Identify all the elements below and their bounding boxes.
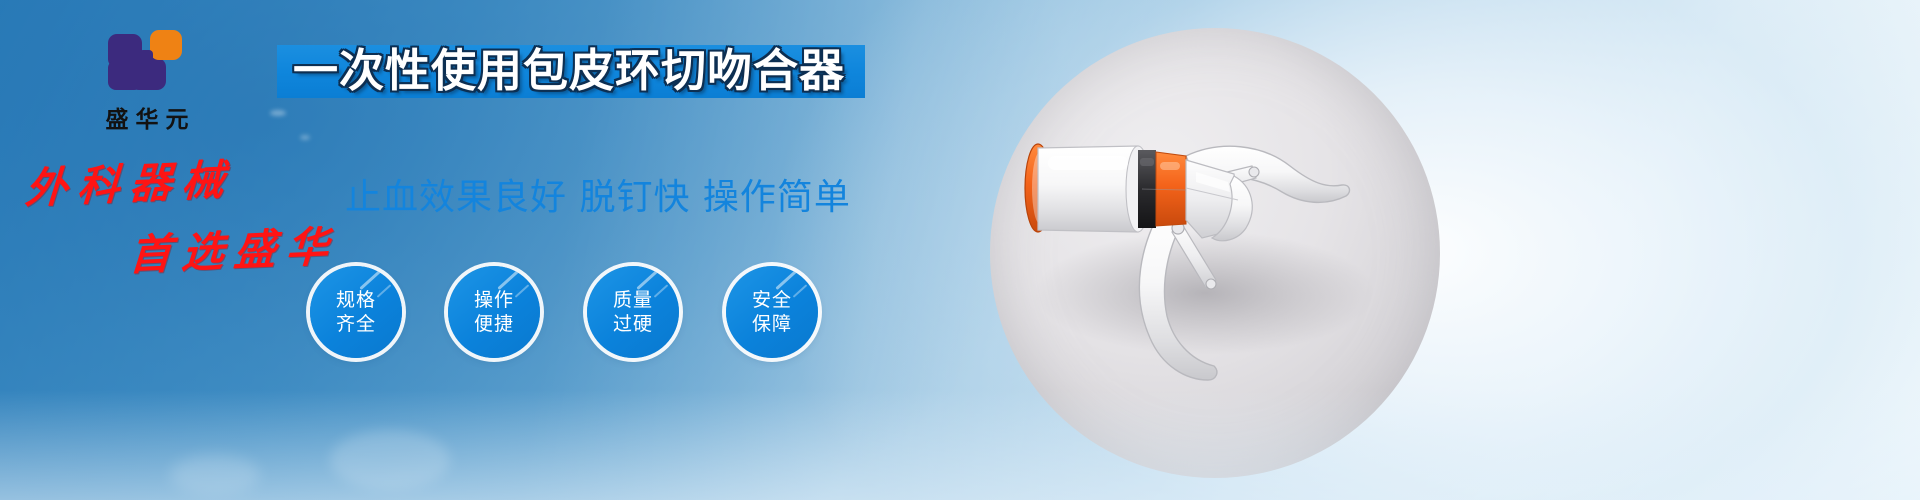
feature-badge-4-line-1: 安全	[752, 288, 792, 312]
product-slogan: 止血效果良好 脱钉快 操作简单	[345, 168, 851, 220]
feature-badge-3-label: 质量 过硬	[587, 266, 679, 358]
feature-badge-4-line-2: 保障	[752, 312, 792, 336]
feature-badge-1[interactable]: 规格 齐全	[310, 266, 402, 358]
feature-badge-1-label: 规格 齐全	[310, 266, 402, 358]
feature-badge-1-line-2: 齐全	[336, 312, 376, 336]
brand-name-text: 盛华元	[62, 100, 232, 134]
background-sparkle	[300, 135, 310, 140]
bottom-fade-overlay	[0, 390, 1920, 500]
logo-shape-square-orange	[150, 30, 182, 60]
feature-badge-1-line-1: 规格	[336, 288, 376, 312]
feature-badge-3[interactable]: 质量 过硬	[587, 266, 679, 358]
feature-badge-2-label: 操作 便捷	[448, 266, 540, 358]
feature-badge-2-line-1: 操作	[474, 288, 514, 312]
background-highlight	[170, 455, 260, 495]
calligraphy-slogan: 外科器械 首选盛华	[18, 148, 348, 258]
product-device-illustration	[990, 28, 1440, 478]
device-pivot-tip-lower	[1206, 279, 1216, 289]
product-banner: 盛华元 一次性使用包皮环切吻合器 外科器械 首选盛华 止血效果良好 脱钉快 操作…	[0, 0, 1920, 500]
background-sparkle	[270, 110, 286, 116]
product-photo	[990, 28, 1440, 478]
brand-logo[interactable]: 盛华元	[62, 28, 232, 134]
calligraphy-line-1: 外科器械	[24, 141, 351, 216]
feature-badge-2-line-2: 便捷	[474, 312, 514, 336]
feature-badge-2[interactable]: 操作 便捷	[448, 266, 540, 358]
device-pivot-tip-upper	[1249, 167, 1259, 177]
background-highlight	[330, 430, 450, 490]
feature-badge-3-line-2: 过硬	[613, 312, 653, 336]
logo-mark-icon	[108, 28, 186, 94]
feature-badge-3-line-1: 质量	[613, 288, 653, 312]
page-title: 一次性使用包皮环切吻合器	[293, 40, 893, 102]
logo-shape-square-center	[139, 50, 153, 64]
feature-badge-4-label: 安全 保障	[726, 266, 818, 358]
feature-badge-4[interactable]: 安全 保障	[726, 266, 818, 358]
